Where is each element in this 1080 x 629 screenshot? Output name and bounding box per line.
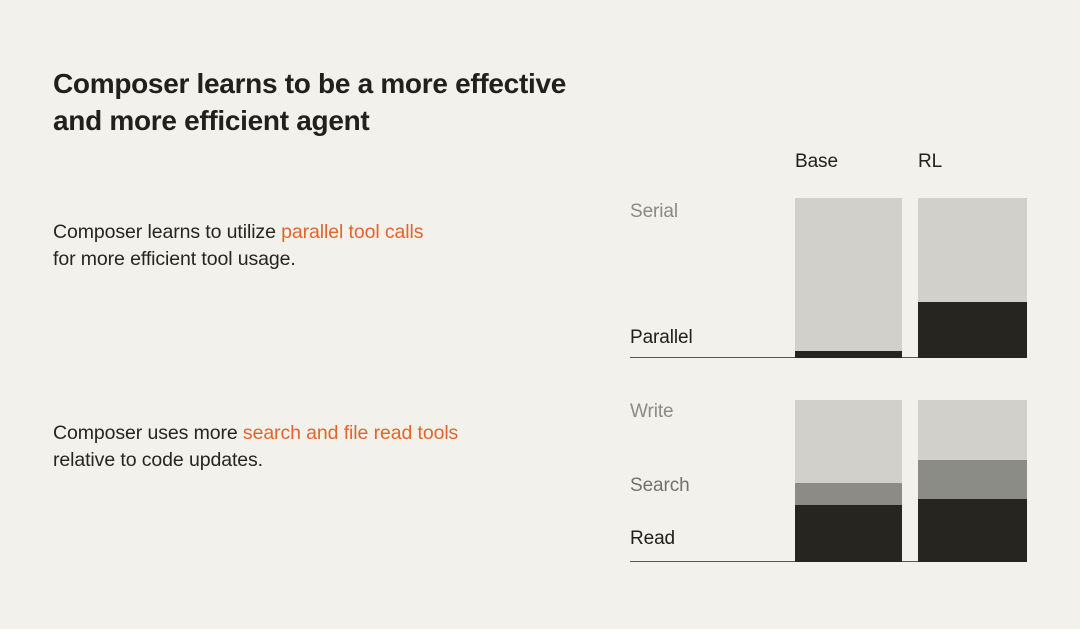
segment-base-write <box>795 400 902 483</box>
chart-tool-usage-mix: Write Search Read <box>630 396 1050 562</box>
description-parallel-highlight: parallel tool calls <box>281 221 423 243</box>
bar-chart-2-base <box>795 400 902 562</box>
description-search-line-1: Composer uses more search and file read … <box>53 420 613 447</box>
row-label-write: Write <box>630 401 673 423</box>
segment-base-parallel <box>795 351 902 358</box>
row-label-read: Read <box>630 528 675 550</box>
bar-chart-1-rl <box>918 198 1027 358</box>
page-title-line-2: and more efficient agent <box>53 102 673 139</box>
description-parallel-line-2: for more efficient tool usage. <box>53 246 613 273</box>
description-search-line-2: relative to code updates. <box>53 447 613 474</box>
segment-base-search <box>795 483 902 506</box>
row-label-serial: Serial <box>630 201 678 223</box>
row-label-search: Search <box>630 475 690 497</box>
segment-base-read <box>795 505 902 562</box>
segment-base-serial <box>795 198 902 351</box>
segment-rl-read <box>918 499 1027 562</box>
segment-rl-write <box>918 400 1027 460</box>
description-search-prefix: Composer uses more <box>53 422 243 444</box>
bar-chart-1-base <box>795 198 902 358</box>
description-parallel-prefix: Composer learns to utilize <box>53 221 281 243</box>
chart-column-headers: Base RL <box>630 150 1050 178</box>
segment-rl-serial <box>918 198 1027 302</box>
page-title: Composer learns to be a more effective a… <box>53 65 673 139</box>
charts-region: Base RL Serial Parallel Write Search Rea… <box>630 0 1050 629</box>
slide-root: Composer learns to be a more effective a… <box>0 0 1080 629</box>
column-header-base: Base <box>795 150 838 174</box>
description-parallel-line-1: Composer learns to utilize parallel tool… <box>53 219 613 246</box>
row-label-parallel: Parallel <box>630 327 693 349</box>
description-search-read-tools: Composer uses more search and file read … <box>53 420 613 474</box>
description-parallel-tool-calls: Composer learns to utilize parallel tool… <box>53 219 613 273</box>
page-title-line-1: Composer learns to be a more effective <box>53 65 673 102</box>
segment-rl-search <box>918 460 1027 499</box>
chart-tool-call-parallelism: Serial Parallel <box>630 196 1050 358</box>
column-header-rl: RL <box>918 150 942 174</box>
description-search-highlight: search and file read tools <box>243 422 458 444</box>
segment-rl-parallel <box>918 302 1027 358</box>
bar-chart-2-rl <box>918 400 1027 562</box>
